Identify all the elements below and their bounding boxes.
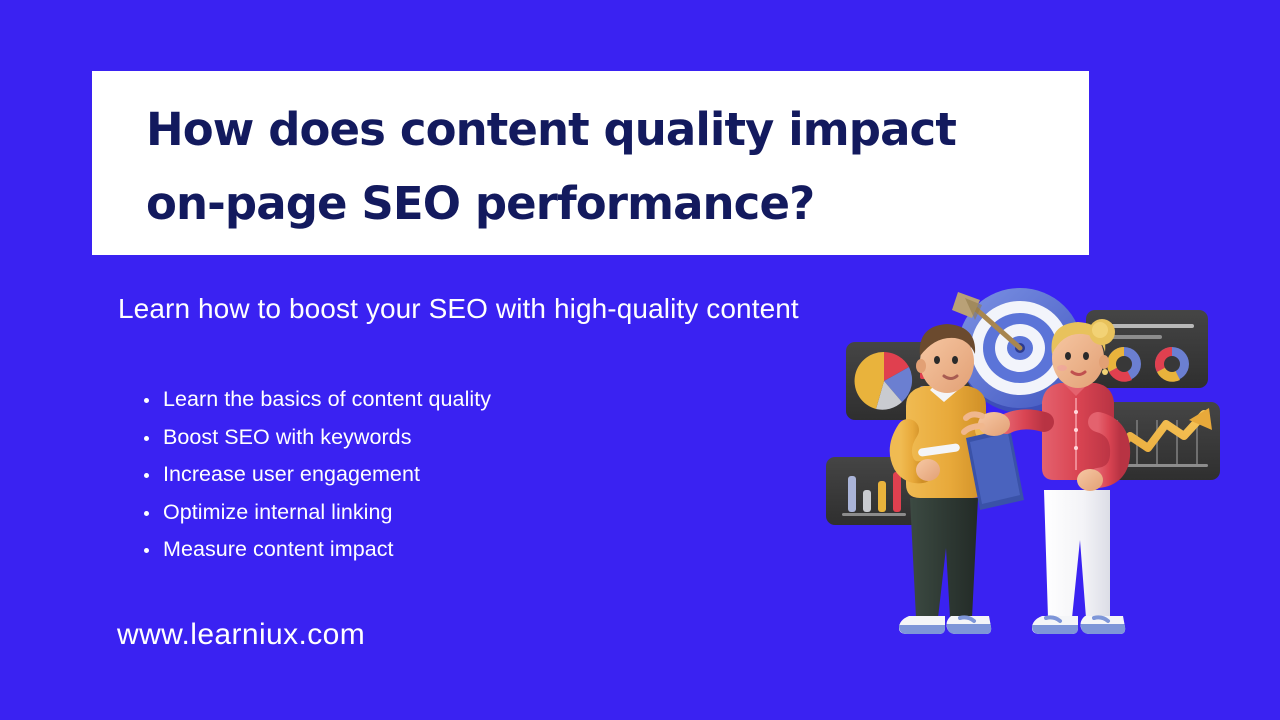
bullet-dot-icon bbox=[144, 511, 149, 516]
bullet-dot-icon bbox=[144, 473, 149, 478]
list-item: Learn the basics of content quality bbox=[140, 381, 491, 419]
list-item: Boost SEO with keywords bbox=[140, 419, 491, 457]
slide-canvas: How does content quality impact on-page … bbox=[0, 0, 1280, 720]
website-url[interactable]: www.learniux.com bbox=[117, 615, 365, 655]
bullet-dot-icon bbox=[144, 436, 149, 441]
man-shoes bbox=[899, 616, 991, 634]
list-item-label: Learn the basics of content quality bbox=[163, 387, 491, 411]
list-item: Increase user engagement bbox=[140, 456, 491, 494]
list-item: Optimize internal linking bbox=[140, 494, 491, 532]
bullet-dot-icon bbox=[144, 398, 149, 403]
bullet-dot-icon bbox=[144, 548, 149, 553]
page-title: How does content quality impact on-page … bbox=[146, 93, 1049, 241]
subtitle-text: Learn how to boost your SEO with high-qu… bbox=[118, 291, 799, 327]
bullet-list: Learn the basics of content quality Boos… bbox=[140, 381, 491, 569]
list-item: Measure content impact bbox=[140, 531, 491, 569]
list-item-label: Boost SEO with keywords bbox=[163, 425, 412, 449]
woman-shoes bbox=[1032, 616, 1125, 634]
list-item-label: Optimize internal linking bbox=[163, 500, 393, 524]
list-item-label: Increase user engagement bbox=[163, 462, 420, 486]
title-card: How does content quality impact on-page … bbox=[92, 71, 1089, 255]
list-item-label: Measure content impact bbox=[163, 537, 394, 561]
seo-team-illustration bbox=[810, 280, 1230, 670]
